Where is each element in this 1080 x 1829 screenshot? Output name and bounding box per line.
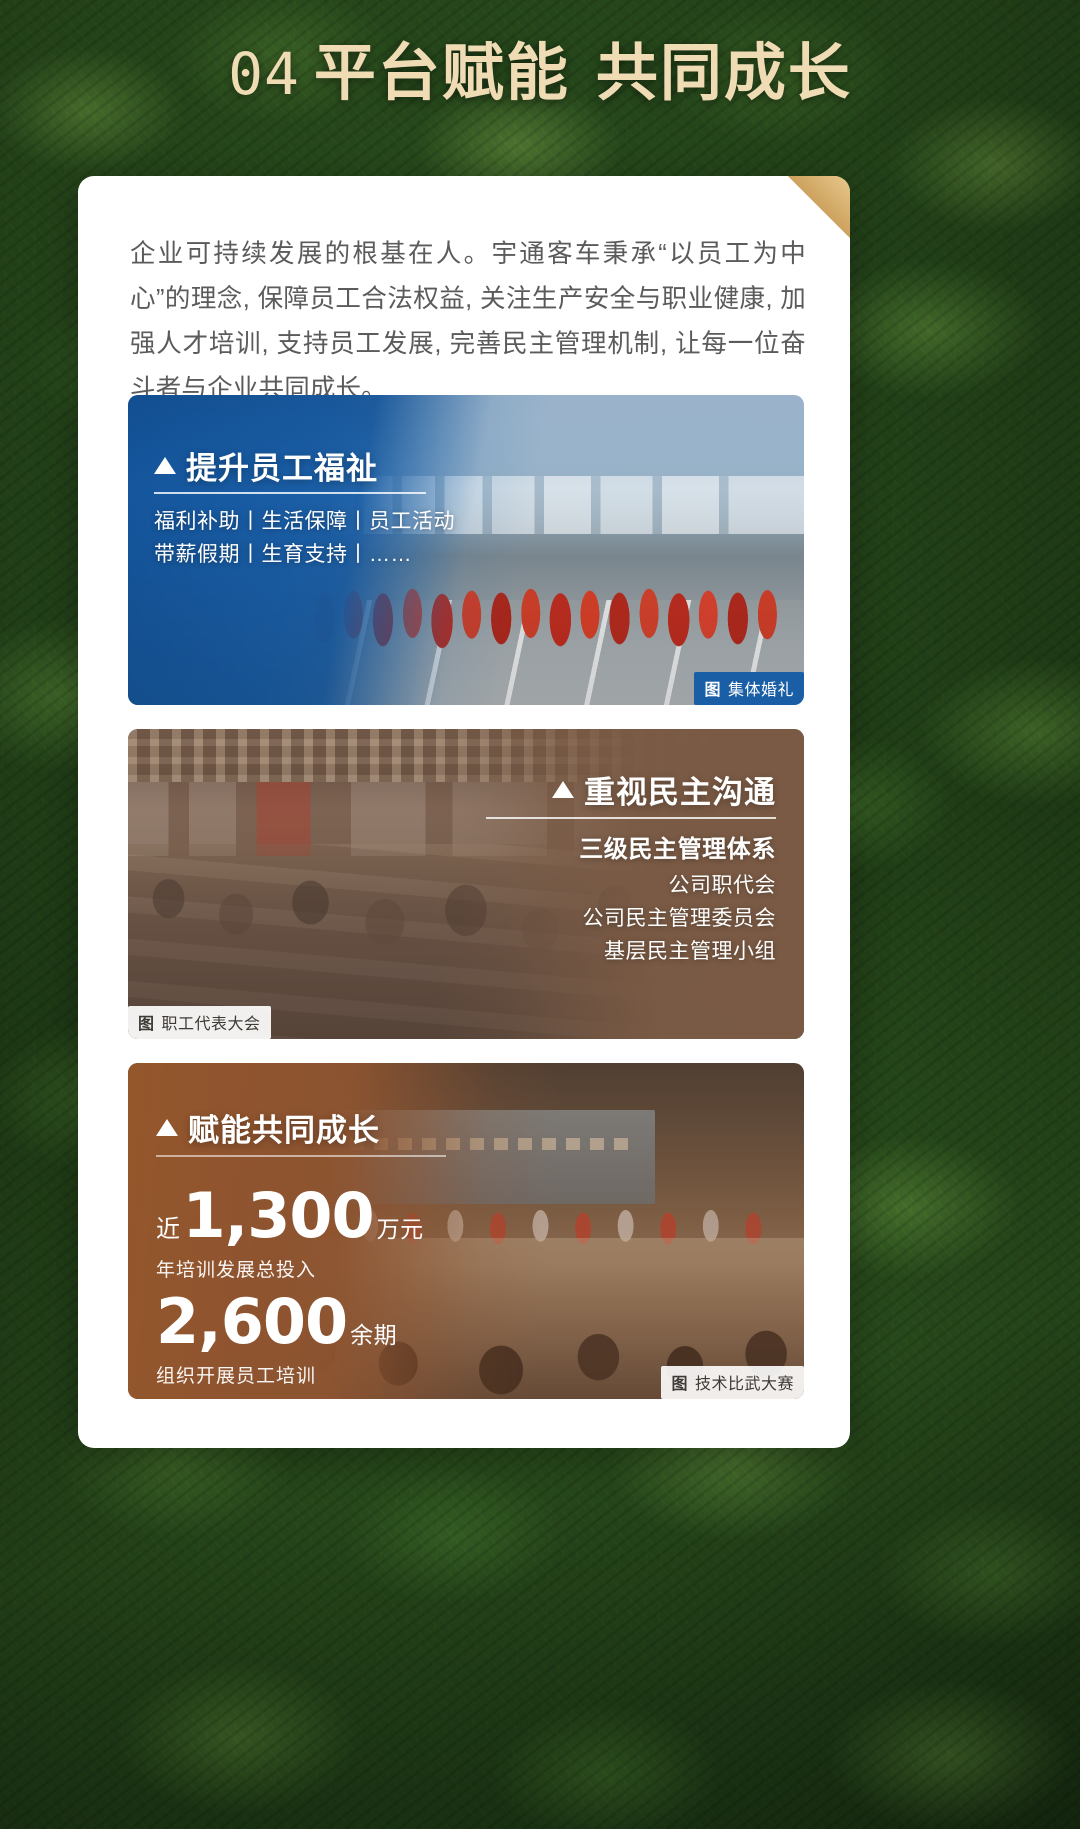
democracy-subtitle: 三级民主管理体系 <box>579 829 776 864</box>
growth-card-title-text: 赋能共同成长 <box>188 1105 380 1150</box>
card-growth-training[interactable]: 赋能共同成长 近 1,300 万元 年培训发展总投入 2,600 余期 组织开展… <box>128 1063 804 1399</box>
page-header: 04平台赋能共同成长 <box>0 22 1080 112</box>
stat-sessions-unit: 余期 <box>350 1316 397 1350</box>
page-title-part-b: 共同成长 <box>596 36 852 109</box>
democracy-structure-line-2: 公司民主管理委员会 <box>583 902 777 935</box>
stat-investment-prefix: 近 <box>156 1209 181 1244</box>
democracy-structure-list: 公司职代会 公司民主管理委员会 基层民主管理小组 <box>583 869 777 968</box>
caption-mark-label: 图 <box>138 1010 155 1034</box>
democracy-structure-line-3: 基层民主管理小组 <box>583 935 777 968</box>
stat-investment-label: 年培训发展总投入 <box>156 1255 424 1282</box>
democracy-structure-line-1: 公司职代会 <box>583 869 777 902</box>
section-number: 04 <box>228 40 300 108</box>
content-panel: 企业可持续发展的根基在人。宇通客车秉承“以员工为中心”的理念, 保障员工合法权益… <box>78 176 850 1448</box>
intro-paragraph: 企业可持续发展的根基在人。宇通客车秉承“以员工为中心”的理念, 保障员工合法权益… <box>130 232 806 412</box>
stat-training-sessions: 2,600 余期 组织开展员工培训 <box>156 1291 397 1388</box>
growth-divider <box>156 1155 446 1157</box>
caption-mark-label: 图 <box>671 1370 688 1394</box>
page-title-part-a: 平台赋能 <box>314 36 570 109</box>
stat-investment-value-row: 近 1,300 万元 <box>156 1185 424 1247</box>
democracy-card-title-text: 重视民主沟通 <box>584 767 776 812</box>
triangle-marker-icon <box>552 781 574 798</box>
democracy-card-title: 重视民主沟通 <box>552 767 776 812</box>
gold-corner-decoration <box>788 176 850 238</box>
welfare-divider <box>154 492 426 494</box>
stat-investment-unit: 万元 <box>377 1210 424 1244</box>
card-democratic-communication[interactable]: 重视民主沟通 三级民主管理体系 公司职代会 公司民主管理委员会 基层民主管理小组… <box>128 729 804 1039</box>
growth-photo-caption: 图 技术比武大赛 <box>661 1366 804 1399</box>
stat-training-investment: 近 1,300 万元 年培训发展总投入 <box>156 1185 424 1282</box>
democracy-divider <box>486 817 776 819</box>
welfare-card-title: 提升员工福祉 <box>154 443 378 488</box>
card-employee-welfare[interactable]: 提升员工福祉 福利补助丨生活保障丨员工活动 带薪假期丨生育支持丨…… 图 集体婚… <box>128 395 804 705</box>
welfare-photo-caption: 图 集体婚礼 <box>694 672 804 705</box>
caption-text: 技术比武大赛 <box>695 1370 794 1394</box>
growth-card-title: 赋能共同成长 <box>156 1105 380 1150</box>
caption-text: 职工代表大会 <box>162 1010 261 1034</box>
caption-text: 集体婚礼 <box>728 676 794 700</box>
welfare-card-title-text: 提升员工福祉 <box>186 443 378 488</box>
welfare-benefit-line-1: 福利补助丨生活保障丨员工活动 <box>154 505 455 538</box>
stat-sessions-number: 2,600 <box>156 1291 347 1353</box>
triangle-marker-icon <box>156 1119 178 1136</box>
stat-investment-number: 1,300 <box>183 1185 374 1247</box>
democracy-photo-caption: 图 职工代表大会 <box>128 1006 271 1039</box>
welfare-benefit-list: 福利补助丨生活保障丨员工活动 带薪假期丨生育支持丨…… <box>154 505 455 571</box>
page-title: 04平台赋能共同成长 <box>0 22 1080 112</box>
caption-mark-label: 图 <box>704 676 721 700</box>
stat-sessions-label: 组织开展员工培训 <box>156 1361 397 1388</box>
welfare-benefit-line-2: 带薪假期丨生育支持丨…… <box>154 538 455 571</box>
stat-sessions-value-row: 2,600 余期 <box>156 1291 397 1353</box>
triangle-marker-icon <box>154 457 176 474</box>
